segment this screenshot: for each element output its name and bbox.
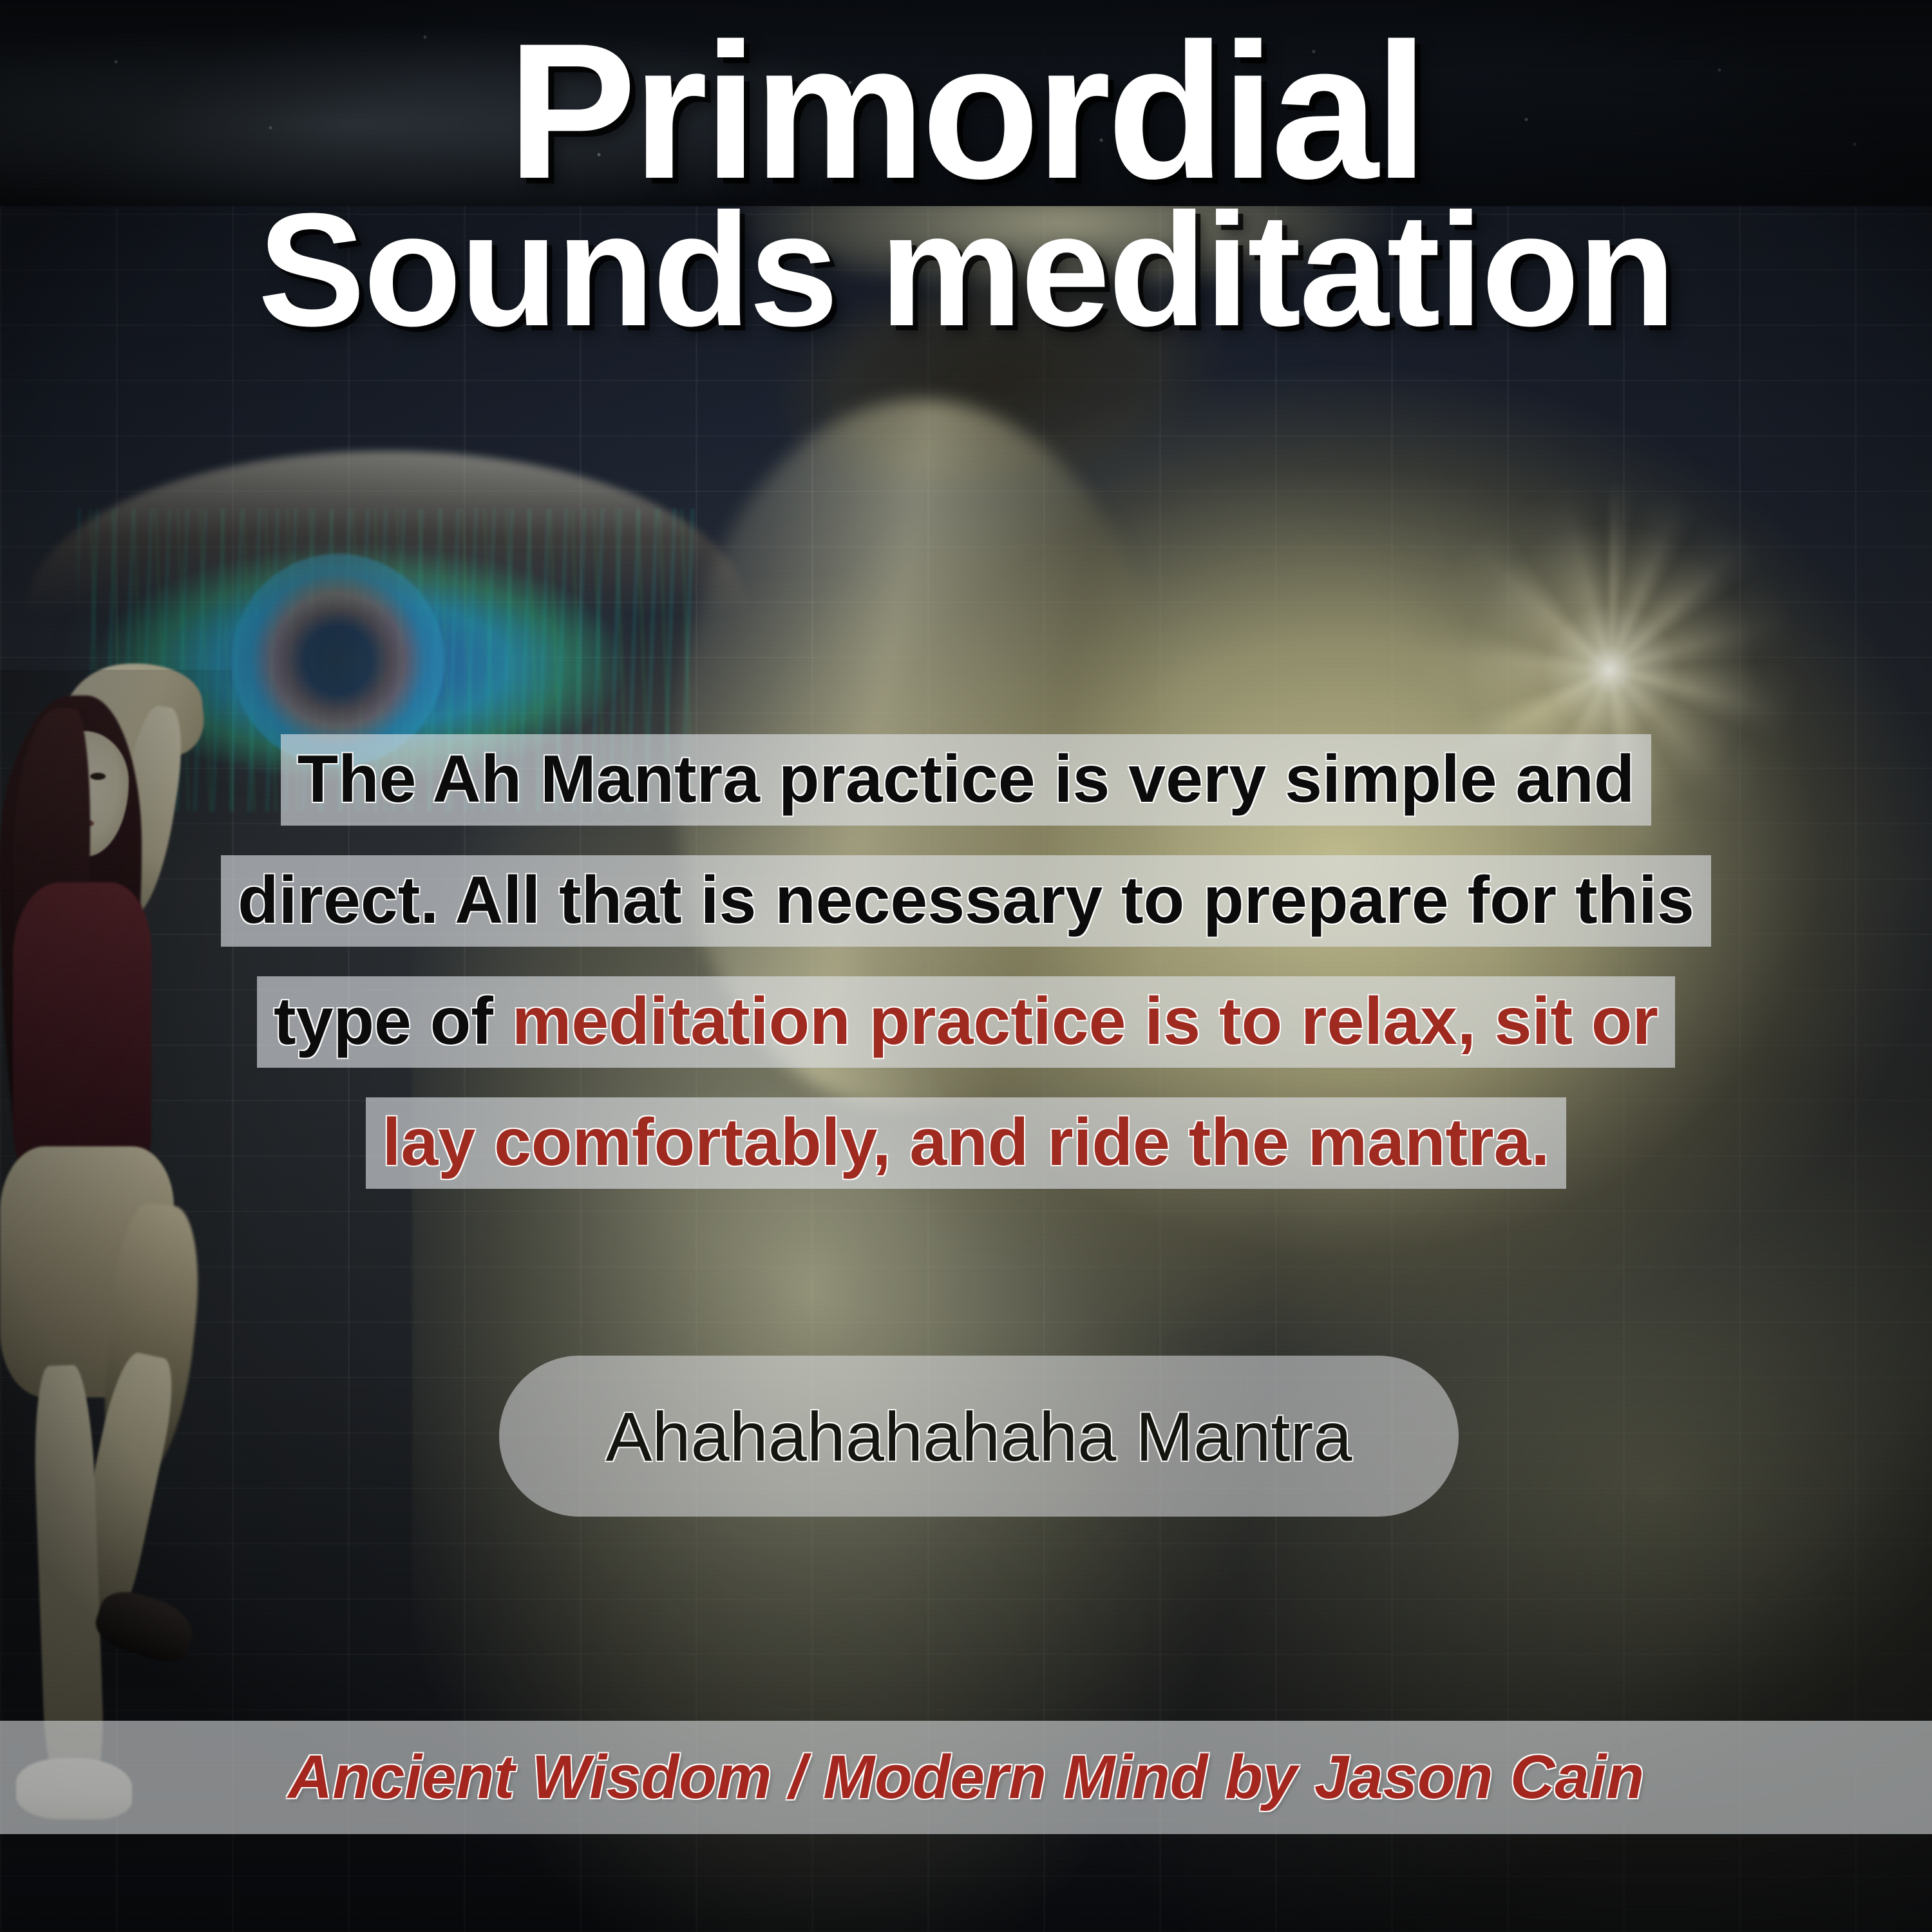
quote-line-1-text: The Ah Mantra practice is very simple an…	[281, 734, 1652, 826]
quote-line-2-text: direct. All that is necessary to prepare…	[221, 855, 1711, 947]
quote-line-3: type of meditation practice is to relax,…	[0, 976, 1932, 1068]
quote-line-3-red: meditation practice is to relax, sit or	[512, 984, 1658, 1059]
mantra-label: Ahahahahahaha Mantra	[606, 1396, 1352, 1477]
quote-line-4-text: lay comfortably, and ride the mantra.	[366, 1097, 1567, 1189]
title-secondary: Sounds meditation	[0, 189, 1932, 350]
quote-line-3-black: type of	[274, 984, 512, 1059]
quote-block: The Ah Mantra practice is very simple an…	[0, 734, 1932, 1218]
quote-line-2: direct. All that is necessary to prepare…	[0, 855, 1932, 947]
quote-line-1: The Ah Mantra practice is very simple an…	[0, 734, 1932, 826]
quote-line-4: lay comfortably, and ride the mantra.	[0, 1097, 1932, 1189]
title-block: Primordial Sounds meditation	[0, 18, 1932, 350]
mantra-pill: Ahahahahahaha Mantra	[499, 1356, 1459, 1517]
album-cover-artwork: Primordial Sounds meditation The Ah Mant…	[0, 0, 1932, 1932]
footer-bar: Ancient Wisdom / Modern Mind by Jason Ca…	[0, 1721, 1932, 1834]
title-primary: Primordial	[0, 18, 1932, 204]
quote-line-3-text: type of meditation practice is to relax,…	[257, 976, 1675, 1068]
footer-credit: Ancient Wisdom / Modern Mind by Jason Ca…	[288, 1742, 1644, 1813]
